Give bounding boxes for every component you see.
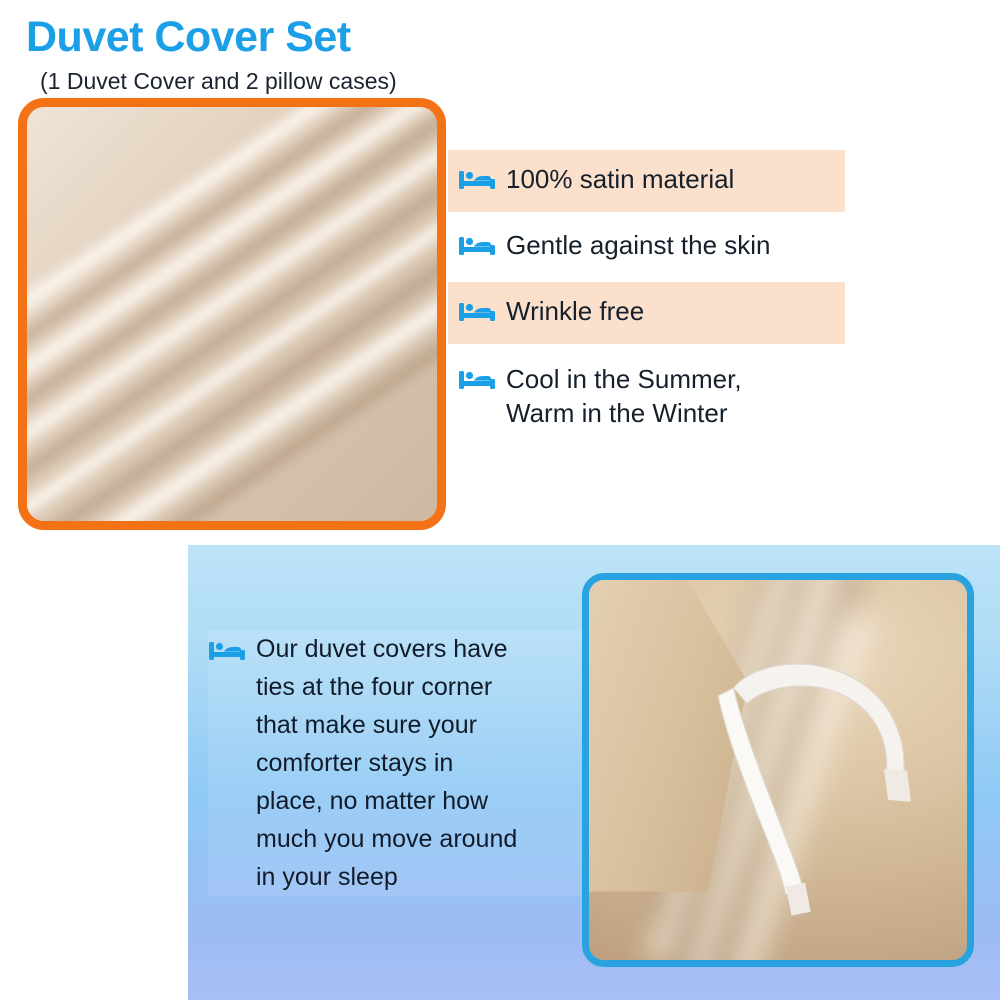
feature-row-2: Gentle against the skin	[448, 212, 845, 282]
ties-feature-panel: Our duvet covers have ties at the four c…	[188, 545, 1000, 1000]
ties-description: Our duvet covers have ties at the four c…	[256, 630, 517, 896]
bed-icon	[458, 366, 496, 392]
bed-icon	[458, 298, 496, 324]
feature-label: 100% satin material	[506, 162, 734, 196]
bed-icon	[208, 637, 246, 663]
bed-icon	[458, 232, 496, 258]
feature-label: Wrinkle free	[506, 294, 644, 328]
ties-text-row: Our duvet covers have ties at the four c…	[208, 630, 586, 896]
ties-text-block: Our duvet covers have ties at the four c…	[208, 630, 586, 896]
feature-row-1: 100% satin material	[448, 150, 845, 212]
page-title: Duvet Cover Set	[26, 16, 351, 59]
feature-list: 100% satin material Gentle against the s…	[448, 150, 848, 430]
feature-row-4: Cool in the Summer, Warm in the Winter	[448, 344, 845, 430]
feature-label: Cool in the Summer, Warm in the Winter	[506, 362, 742, 430]
bed-icon	[458, 166, 496, 192]
satin-fabric-photo	[18, 98, 446, 530]
white-ribbon-ties	[589, 580, 967, 960]
feature-row-3: Wrinkle free	[448, 282, 845, 344]
feature-label: Gentle against the skin	[506, 228, 771, 262]
page-subtitle: (1 Duvet Cover and 2 pillow cases)	[40, 70, 397, 93]
duvet-ties-photo	[582, 573, 974, 967]
infographic-page: Duvet Cover Set (1 Duvet Cover and 2 pil…	[0, 0, 1000, 1000]
